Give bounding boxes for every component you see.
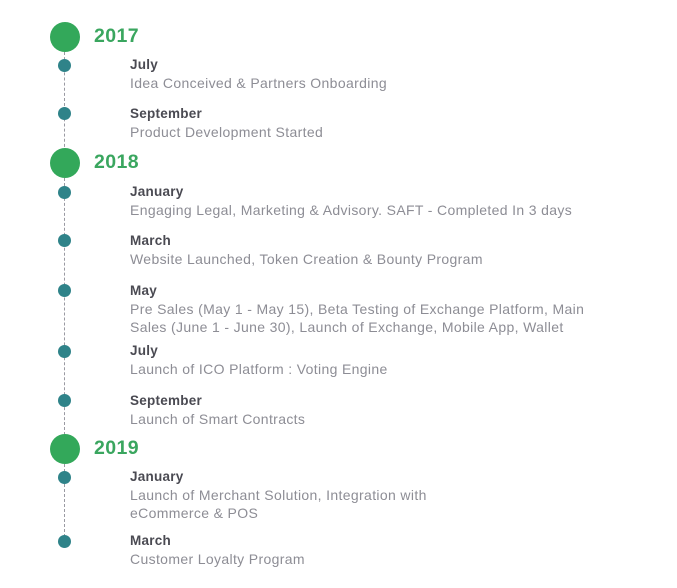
month-dot-icon [58, 471, 71, 484]
timeline-entry[interactable]: May Pre Sales (May 1 - May 15), Beta Tes… [130, 282, 675, 337]
year-label: 2017 [94, 27, 139, 47]
timeline-entry[interactable]: July Idea Conceived & Partners Onboardin… [130, 56, 675, 93]
month-dot-icon [58, 535, 71, 548]
month-dot-icon [58, 186, 71, 199]
timeline-year-2017[interactable]: 2017 [50, 22, 139, 52]
year-bullet-icon [50, 22, 80, 52]
month-dot-icon [58, 234, 71, 247]
year-bullet-icon [50, 434, 80, 464]
entry-description: Customer Loyalty Program [130, 551, 675, 569]
roadmap-timeline: 2017 July Idea Conceived & Partners Onbo… [0, 0, 677, 588]
entry-description: Launch of ICO Platform : Voting Engine [130, 361, 675, 379]
timeline-year-2018[interactable]: 2018 [50, 148, 139, 178]
timeline-entry[interactable]: March Customer Loyalty Program [130, 532, 675, 569]
entry-month-label: May [130, 282, 675, 300]
entry-description: Launch of Merchant Solution, Integration… [130, 487, 675, 523]
entry-month-label: January [130, 468, 675, 486]
entry-description: Pre Sales (May 1 - May 15), Beta Testing… [130, 301, 675, 337]
entry-month-label: September [130, 105, 675, 123]
timeline-entry[interactable]: September Product Development Started [130, 105, 675, 142]
timeline-year-2019[interactable]: 2019 [50, 434, 139, 464]
entry-description: Launch of Smart Contracts [130, 411, 675, 429]
year-bullet-icon [50, 148, 80, 178]
year-label: 2019 [94, 439, 139, 459]
entry-description: Engaging Legal, Marketing & Advisory. SA… [130, 202, 675, 220]
month-dot-icon [58, 107, 71, 120]
timeline-entry[interactable]: January Engaging Legal, Marketing & Advi… [130, 183, 675, 220]
month-dot-icon [58, 394, 71, 407]
timeline-entry[interactable]: July Launch of ICO Platform : Voting Eng… [130, 342, 675, 379]
month-dot-icon [58, 284, 71, 297]
timeline-entry[interactable]: January Launch of Merchant Solution, Int… [130, 468, 675, 523]
year-label: 2018 [94, 153, 139, 173]
timeline-entry[interactable]: September Launch of Smart Contracts [130, 392, 675, 429]
entry-month-label: July [130, 342, 675, 360]
entry-month-label: March [130, 232, 675, 250]
entry-description: Idea Conceived & Partners Onboarding [130, 75, 675, 93]
entry-month-label: January [130, 183, 675, 201]
entry-month-label: March [130, 532, 675, 550]
entry-description: Product Development Started [130, 124, 675, 142]
month-dot-icon [58, 345, 71, 358]
timeline-entry[interactable]: March Website Launched, Token Creation &… [130, 232, 675, 269]
month-dot-icon [58, 59, 71, 72]
entry-month-label: September [130, 392, 675, 410]
entry-description: Website Launched, Token Creation & Bount… [130, 251, 675, 269]
entry-month-label: July [130, 56, 675, 74]
